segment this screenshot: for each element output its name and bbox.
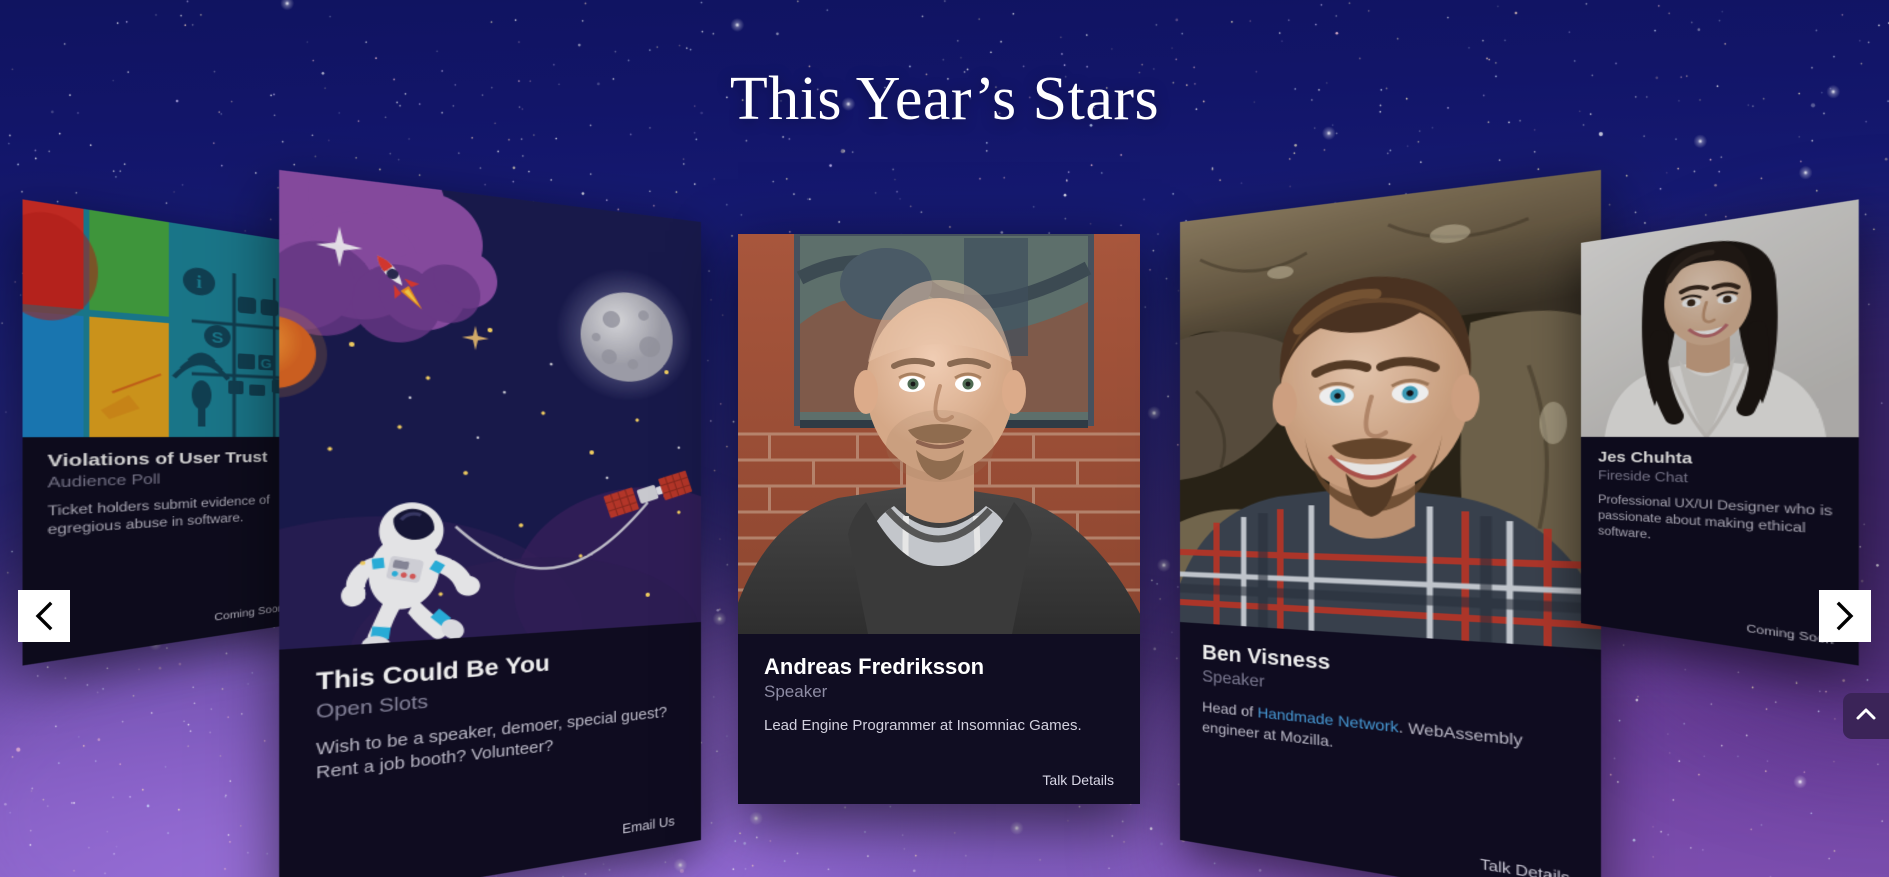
card-cta[interactable]: Coming Soon xyxy=(1598,603,1834,648)
card-role: Speaker xyxy=(764,681,1114,703)
carousel-prev-button[interactable] xyxy=(18,590,70,642)
chevron-right-icon xyxy=(1834,601,1856,631)
card-cta[interactable]: Talk Details xyxy=(764,772,1114,788)
card-image-windows-tech-collage: i S G xyxy=(23,199,301,437)
card-this-could-be-you[interactable]: This Could Be You Open Slots Wish to be … xyxy=(279,170,701,877)
card-description: Ticket holders submit evidence of egregi… xyxy=(48,492,284,541)
card-image-astronaut-space-illustration xyxy=(279,170,701,650)
card-cta[interactable]: Talk Details xyxy=(1202,812,1570,877)
card-description: Lead Engine Programmer at Insomniac Game… xyxy=(764,715,1114,736)
card-description: Professional UX/UI Designer who is passi… xyxy=(1598,492,1834,560)
card-title: Andreas Fredriksson xyxy=(764,654,1114,680)
card-cta[interactable]: Email Us xyxy=(316,814,675,877)
card-body: Ben Visness Speaker Head of Handmade Net… xyxy=(1180,622,1601,877)
page-title: This Year’s Stars xyxy=(0,64,1889,135)
svg-text:S: S xyxy=(211,329,223,347)
card-jes-chuhta[interactable]: Jes Chuhta Fireside Chat Professional UX… xyxy=(1581,199,1859,665)
card-body: Jes Chuhta Fireside Chat Professional UX… xyxy=(1581,437,1859,666)
desc-before: Head of xyxy=(1202,699,1257,721)
carousel-next-button[interactable] xyxy=(1819,590,1871,642)
svg-text:i: i xyxy=(196,273,203,293)
card-image-jes-chuhta-portrait xyxy=(1581,199,1859,437)
card-body: This Could Be You Open Slots Wish to be … xyxy=(279,622,701,877)
card-cta[interactable]: Coming Soon xyxy=(48,603,284,648)
chevron-up-icon xyxy=(1855,707,1877,726)
card-image-ben-visness-portrait xyxy=(1180,170,1601,650)
card-ben-visness[interactable]: Ben Visness Speaker Head of Handmade Net… xyxy=(1180,170,1601,877)
chevron-left-icon xyxy=(33,601,55,631)
card-image-andreas-fredriksson-portrait xyxy=(738,234,1140,634)
card-andreas-fredriksson[interactable]: Andreas Fredriksson Speaker Lead Engine … xyxy=(738,234,1140,804)
scroll-to-top-button[interactable] xyxy=(1843,693,1889,739)
svg-text:G: G xyxy=(261,356,272,371)
card-body: Andreas Fredriksson Speaker Lead Engine … xyxy=(738,634,1140,804)
